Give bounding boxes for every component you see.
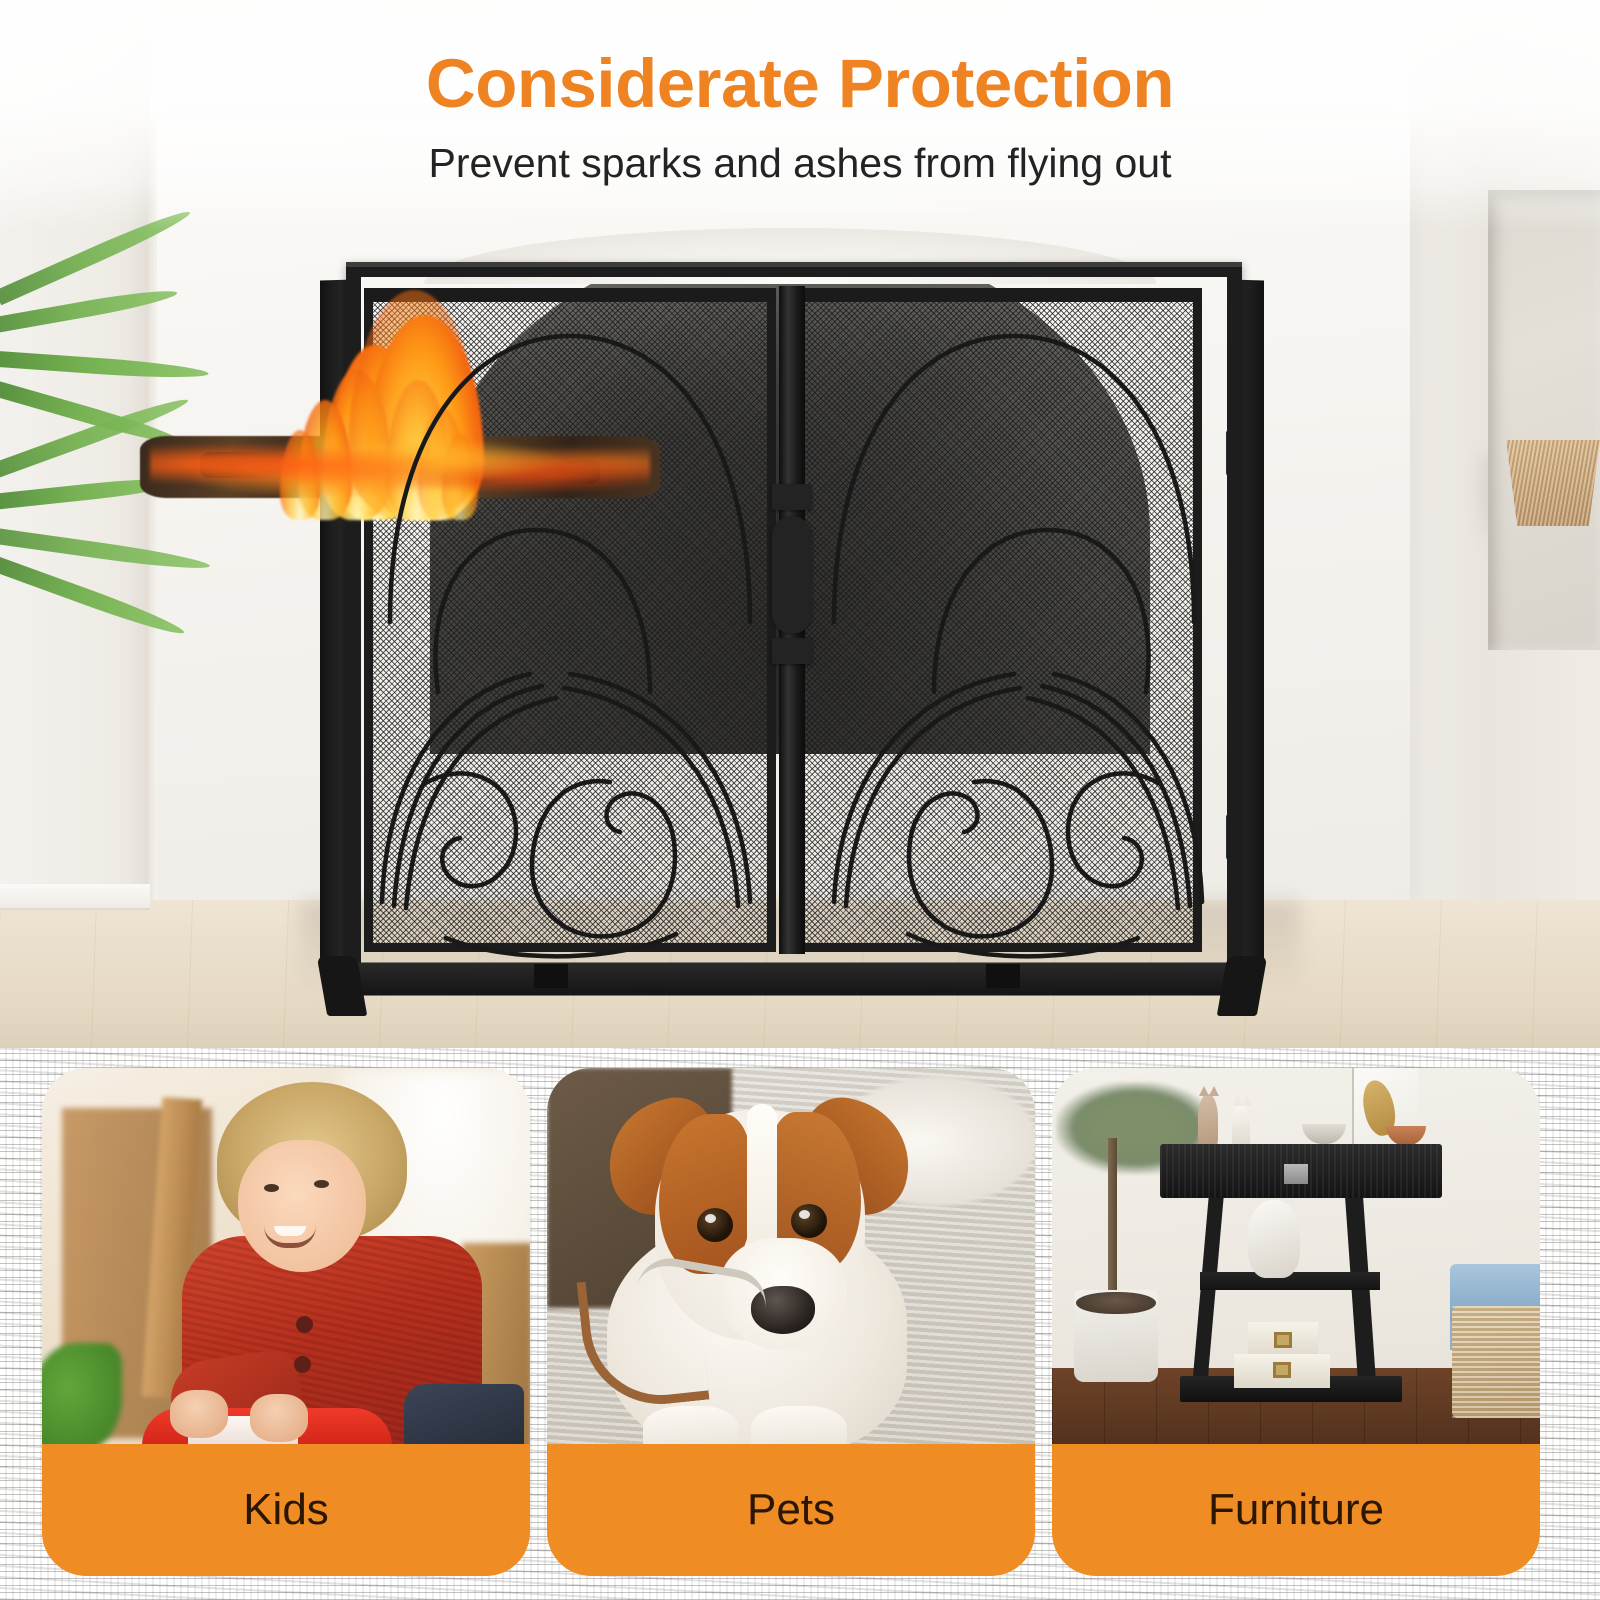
storage-basket [1452, 1306, 1540, 1418]
olive-tree-trunk [1108, 1138, 1117, 1296]
baseboard [0, 884, 150, 910]
dog-photo-backdrop [547, 1068, 1035, 1456]
screen-door-right[interactable] [790, 288, 1202, 952]
hand [250, 1394, 308, 1442]
palm-frond [0, 556, 187, 639]
latch-bracket-bottom[interactable] [772, 638, 812, 664]
benefits-panel: Kids [0, 1048, 1600, 1600]
sweater-button [296, 1316, 313, 1333]
photo-toddler-playing-with-toy-car [42, 1068, 530, 1456]
screen-base-bar [347, 962, 1240, 995]
wall-niche [1488, 190, 1600, 650]
drawer-knob [1284, 1164, 1308, 1184]
palm-frond [0, 350, 209, 382]
eye [314, 1180, 329, 1188]
latch-bracket-top[interactable] [772, 484, 812, 510]
bust-sculpture [1248, 1200, 1300, 1278]
box-medallion [1273, 1362, 1291, 1378]
benefit-label-pets: Pets [547, 1444, 1035, 1576]
photo-black-console-table-with-decor [1052, 1068, 1540, 1456]
cat-figurine-ear [1199, 1086, 1209, 1096]
pebble-soil [1076, 1292, 1156, 1314]
benefit-card-furniture[interactable]: Furniture [1052, 1068, 1540, 1576]
cat-figurine [1198, 1094, 1218, 1148]
white-face-blaze [747, 1104, 777, 1254]
table-leg-left [1191, 1196, 1223, 1396]
base-tab [534, 964, 568, 988]
wicker-basket [1506, 440, 1600, 526]
base-tab [986, 964, 1020, 988]
hand [170, 1390, 228, 1438]
cat-figurine-ear [1242, 1096, 1252, 1106]
latch-handle[interactable] [772, 516, 812, 634]
furniture-photo-backdrop [1052, 1068, 1540, 1456]
childs-face [238, 1140, 366, 1272]
page-title: Considerate Protection [0, 44, 1600, 123]
marketing-image-canvas: Considerate Protection Prevent sparks an… [0, 0, 1600, 1600]
dog-eye-left [697, 1208, 733, 1242]
benefit-label-kids: Kids [42, 1444, 530, 1576]
benefit-card-list: Kids [0, 1048, 1600, 1600]
decor-bowl [1302, 1124, 1346, 1144]
kid-photo-backdrop [42, 1068, 530, 1456]
teeth [274, 1226, 306, 1236]
table-leg-right [1345, 1196, 1377, 1396]
box-medallion [1274, 1332, 1292, 1348]
benefit-label-furniture: Furniture [1052, 1444, 1540, 1576]
benefit-card-kids[interactable]: Kids [42, 1068, 530, 1576]
benefit-card-pets[interactable]: Pets [547, 1068, 1035, 1576]
palm-frond [0, 526, 211, 574]
cat-figurine-ear [1209, 1086, 1219, 1096]
dog-eye-right [791, 1204, 827, 1238]
door-top-bar-right [790, 288, 1202, 302]
door-rail-right [790, 288, 1202, 952]
sweater-button [294, 1356, 311, 1373]
eye [264, 1184, 279, 1192]
glowing-embers [150, 430, 650, 506]
photo-jack-russell-terrier-puppy [547, 1068, 1035, 1456]
page-subtitle: Prevent sparks and ashes from flying out [0, 140, 1600, 187]
